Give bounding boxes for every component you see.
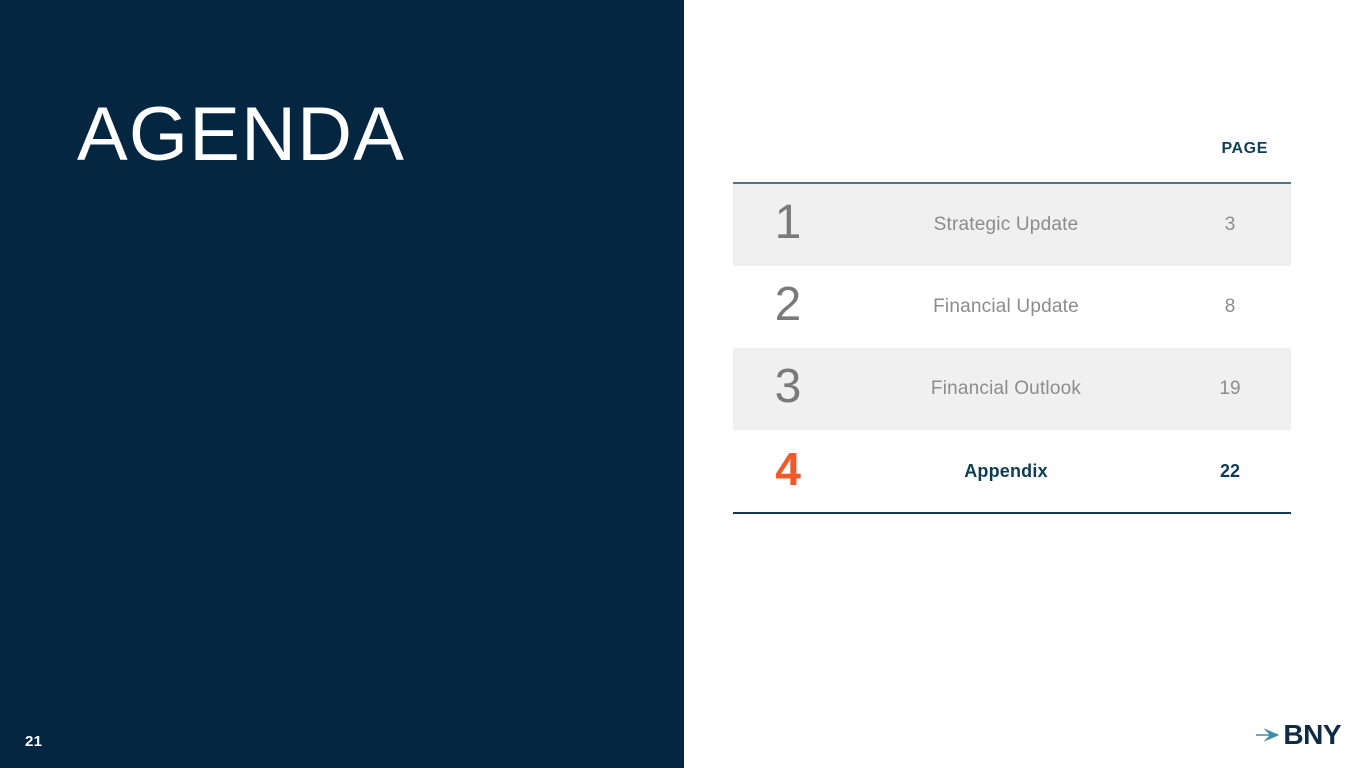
chevron-arrow-icon — [1256, 726, 1280, 744]
brand-logo: BNY — [1256, 720, 1341, 750]
agenda-row-number: 1 — [733, 199, 843, 251]
table-header-row: PAGE — [733, 160, 1291, 182]
table-bottom-rule — [733, 512, 1291, 514]
agenda-row-number: 2 — [733, 281, 843, 333]
agenda-row-number: 4 — [733, 446, 843, 496]
agenda-row-page: 19 — [1169, 378, 1291, 400]
agenda-row-page: 3 — [1169, 214, 1291, 236]
agenda-table: PAGE 1 Strategic Update 3 2 Financial Up… — [733, 160, 1291, 514]
agenda-row-3[interactable]: 3 Financial Outlook 19 — [733, 348, 1291, 430]
agenda-row-number: 3 — [733, 363, 843, 415]
agenda-row-4-active[interactable]: 4 Appendix 22 — [733, 430, 1291, 512]
column-header-page: PAGE — [1221, 140, 1268, 158]
title-panel: AGENDA 21 — [0, 0, 684, 768]
content-panel: PAGE 1 Strategic Update 3 2 Financial Up… — [684, 0, 1365, 768]
agenda-slide: AGENDA 21 PAGE 1 Strategic Update 3 2 Fi… — [0, 0, 1365, 768]
brand-logo-text: BNY — [1283, 721, 1341, 749]
agenda-row-1[interactable]: 1 Strategic Update 3 — [733, 184, 1291, 266]
agenda-row-page: 8 — [1169, 296, 1291, 318]
page-title: AGENDA — [77, 96, 405, 174]
agenda-row-2[interactable]: 2 Financial Update 8 — [733, 266, 1291, 348]
agenda-row-page: 22 — [1169, 461, 1291, 482]
slide-page-number: 21 — [25, 733, 42, 750]
